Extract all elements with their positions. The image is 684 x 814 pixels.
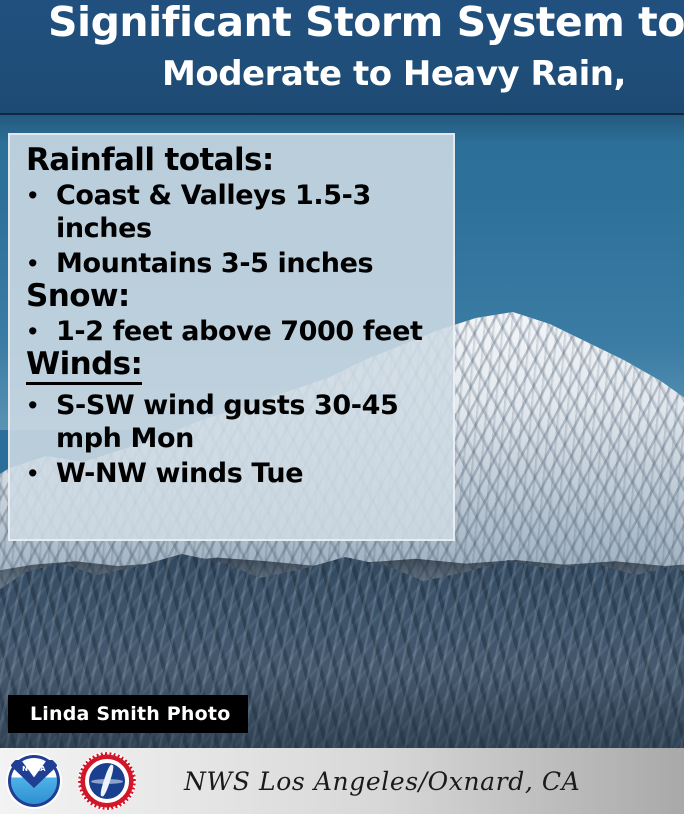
bullet-marker: •: [18, 315, 56, 348]
list-item: • W-NW winds Tue: [18, 457, 445, 490]
bullet-text: W-NW winds Tue: [56, 457, 445, 490]
forecast-details-box: Rainfall totals: • Coast & Valleys 1.5-3…: [8, 133, 455, 541]
bullet-marker: •: [18, 247, 56, 280]
section-heading-rainfall: Rainfall totals:: [26, 145, 445, 177]
footer-bar: NOAA NWS Los Angeles/Oxnard, CA: [0, 748, 684, 814]
bullet-text: Coast & Valleys 1.5-3 inches: [56, 179, 445, 246]
bullet-text: 1-2 feet above 7000 feet: [56, 315, 445, 348]
bullet-text: Mountains 3-5 inches: [56, 247, 445, 280]
section-winds: Winds: • S-SW wind gusts 30-45 mph Mon •…: [18, 349, 445, 490]
bullet-text: S-SW wind gusts 30-45 mph Mon: [56, 389, 445, 456]
section-heading-winds: Winds:: [26, 349, 142, 385]
list-item: • S-SW wind gusts 30-45 mph Mon: [18, 389, 445, 456]
title-bar: Significant Storm System to Moderate to …: [0, 0, 684, 115]
bullet-marker: •: [18, 389, 56, 422]
nws-globe-shape: [89, 763, 125, 799]
section-snow: Snow: • 1-2 feet above 7000 feet: [18, 281, 445, 348]
noaa-wordmark: NOAA: [6, 765, 62, 773]
bullet-marker: •: [18, 457, 56, 490]
section-heading-snow: Snow:: [26, 281, 445, 313]
photo-credit-label: Linda Smith Photo: [8, 695, 248, 733]
title-line-secondary: Moderate to Heavy Rain,: [162, 54, 626, 94]
agency-logos: NOAA: [0, 752, 136, 810]
weather-graphic: Significant Storm System to Moderate to …: [0, 0, 684, 814]
office-name: NWS Los Angeles/Oxnard, CA: [136, 767, 684, 796]
list-item: • Coast & Valleys 1.5-3 inches: [18, 179, 445, 246]
noaa-logo-icon: NOAA: [6, 753, 62, 809]
list-item: • 1-2 feet above 7000 feet: [18, 315, 445, 348]
section-rainfall: Rainfall totals: • Coast & Valleys 1.5-3…: [18, 145, 445, 280]
list-item: • Mountains 3-5 inches: [18, 247, 445, 280]
nws-logo-icon: [78, 752, 136, 810]
bullet-marker: •: [18, 179, 56, 212]
title-line-primary: Significant Storm System to: [48, 0, 684, 46]
